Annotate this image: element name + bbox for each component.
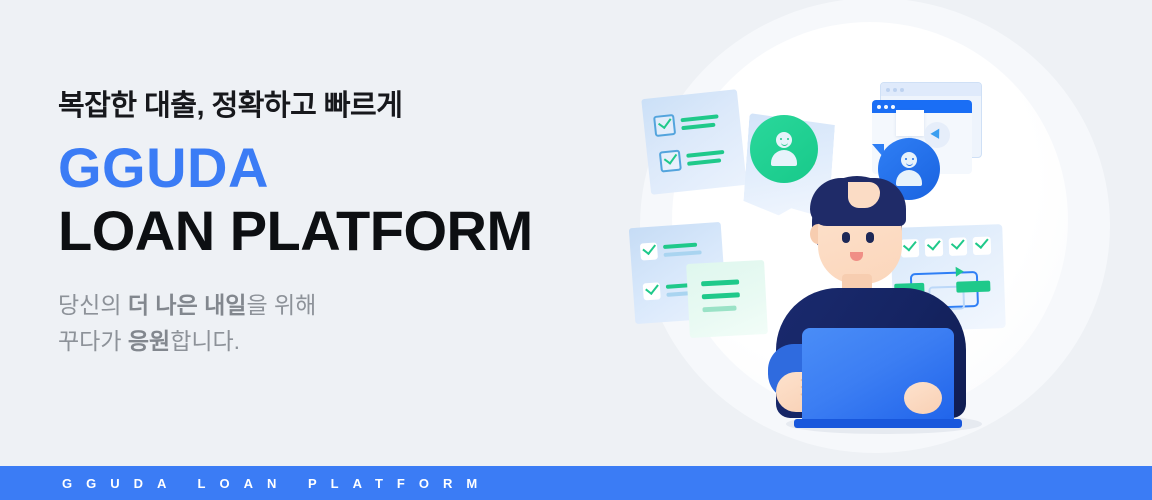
- hero-brand-title: GGUDA: [58, 138, 618, 197]
- eye: [866, 232, 874, 243]
- avatar-body: [771, 150, 797, 166]
- document-thumbnail: [896, 110, 924, 136]
- checklist-card-upper-left-icon: [641, 89, 747, 195]
- text-bar: [680, 114, 718, 122]
- person-with-laptop-illustration: [756, 176, 996, 442]
- text-bar: [687, 158, 721, 166]
- checkbox-checked-icon: [643, 282, 661, 300]
- window-dot: [900, 88, 904, 92]
- checkbox-checked-icon: [640, 242, 658, 260]
- paper-sheet: [641, 89, 747, 195]
- right-hand: [904, 382, 942, 414]
- text-bar: [664, 250, 702, 257]
- avatar-icon: [767, 132, 801, 166]
- green-chat-avatar-bubble-icon: [750, 115, 818, 183]
- window-dot: [886, 88, 890, 92]
- hero-tagline: 당신의 더 나은 내일을 위해 꾸다가 응원합니다.: [58, 288, 618, 359]
- text-bar: [663, 242, 697, 248]
- text-placeholder-bars: [686, 149, 725, 165]
- text-bar: [701, 279, 739, 286]
- window-dot: [877, 105, 881, 109]
- hero-product-title: LOAN PLATFORM: [58, 200, 618, 263]
- eye: [842, 232, 850, 243]
- tagline-2-emphasis: 응원: [128, 328, 170, 354]
- hero-banner: 복잡한 대출, 정확하고 빠르게 GGUDA LOAN PLATFORM 당신의…: [0, 0, 1152, 500]
- window-dot: [893, 88, 897, 92]
- tagline-2-pre: 꾸다가: [58, 328, 128, 354]
- marquee-text: GGUDA LOAN PLATFORM: [0, 476, 491, 491]
- hero-copy: 복잡한 대출, 정확하고 빠르게 GGUDA LOAN PLATFORM 당신의…: [58, 88, 618, 360]
- checkbox-checked-icon: [659, 150, 682, 173]
- window-dot: [891, 105, 895, 109]
- text-placeholder-bars: [663, 242, 702, 257]
- tagline-2-post: 합니다.: [170, 328, 240, 354]
- tagline-1-post: 을 위해: [246, 292, 316, 318]
- text-placeholder-bars: [680, 114, 719, 130]
- laptop-base: [794, 419, 962, 428]
- checkbox-checked-icon: [653, 114, 676, 137]
- window-dot: [884, 105, 888, 109]
- browser-titlebar: [881, 83, 981, 96]
- avatar-smile: [906, 161, 913, 166]
- check-mark-icon: [645, 281, 659, 295]
- tagline-1-pre: 당신의: [58, 292, 128, 318]
- bottom-marquee-bar: GGUDA LOAN PLATFORM: [0, 466, 1152, 500]
- hero-tagline-line-2: 꾸다가 응원합니다.: [58, 324, 618, 360]
- text-placeholder-bars: [701, 279, 741, 312]
- hero-tagline-line-1: 당신의 더 나은 내일을 위해: [58, 288, 618, 324]
- text-bar: [702, 292, 740, 299]
- tagline-1-emphasis: 더 나은 내일: [128, 292, 247, 318]
- hero-eyebrow: 복잡한 대출, 정확하고 빠르게: [58, 88, 618, 124]
- check-mark-icon: [658, 115, 672, 129]
- text-bar: [686, 149, 724, 157]
- check-mark-icon: [642, 241, 656, 255]
- check-mark-icon: [664, 150, 678, 164]
- text-bar: [681, 122, 715, 130]
- hero-illustration: [600, 0, 1152, 460]
- avatar-smile: [781, 141, 788, 146]
